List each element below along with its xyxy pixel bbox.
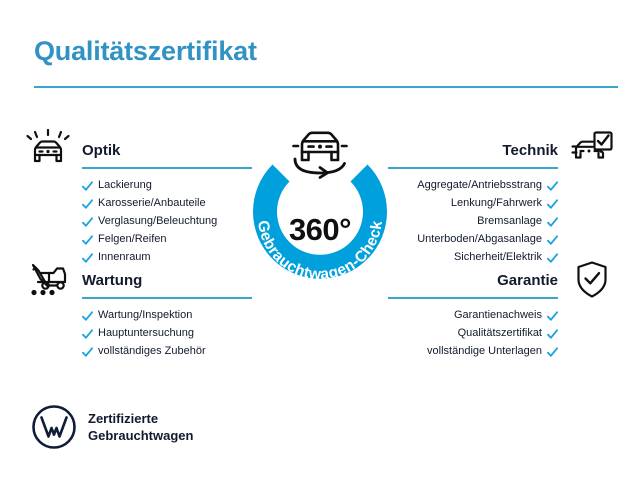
list-item: Hauptuntersuchung bbox=[22, 324, 252, 342]
list-item: Bremsanlage bbox=[388, 212, 618, 230]
car-shine-icon bbox=[22, 128, 74, 172]
list-item-label: Verglasung/Beleuchtung bbox=[98, 212, 217, 230]
list-item-label: Unterboden/Abgasanlage bbox=[417, 230, 542, 248]
check-icon bbox=[82, 328, 93, 339]
check-icon bbox=[547, 216, 558, 227]
check-icon bbox=[82, 216, 93, 227]
list-item-label: vollständige Unterlagen bbox=[427, 342, 542, 360]
list-item: Lenkung/Fahrwerk bbox=[388, 194, 618, 212]
section-garantie-header: Garantie bbox=[388, 258, 618, 298]
list-item-label: Karosserie/Anbauteile bbox=[98, 194, 206, 212]
section-optik: Optik Lackierung Karosserie/Anbauteile bbox=[22, 128, 252, 266]
list-item-label: vollständiges Zubehör bbox=[98, 342, 206, 360]
check-icon bbox=[82, 310, 93, 321]
badge-center-label: 360° bbox=[231, 212, 409, 248]
check-icon bbox=[547, 198, 558, 209]
list-item: Wartung/Inspektion bbox=[22, 306, 252, 324]
list-item-label: Aggregate/Antriebsstrang bbox=[417, 176, 542, 194]
list-item: Lackierung bbox=[22, 176, 252, 194]
list-item-label: Felgen/Reifen bbox=[98, 230, 167, 248]
check-icon bbox=[547, 180, 558, 191]
check-icon bbox=[547, 328, 558, 339]
title-divider bbox=[34, 86, 618, 88]
section-wartung-list: Wartung/Inspektion Hauptuntersuchung vol… bbox=[22, 306, 252, 360]
car-service-pen-icon bbox=[22, 258, 74, 302]
vw-footer-line2: Gebrauchtwagen bbox=[88, 428, 193, 443]
check-icon bbox=[82, 198, 93, 209]
section-garantie: Garantie Garantienachweis Qualitätszerti… bbox=[388, 258, 618, 360]
check-icon bbox=[82, 346, 93, 357]
badge-360-gebrauchtwagen-check: Gebrauchtwagen-Check 360° bbox=[231, 122, 409, 300]
vw-logo-icon bbox=[32, 405, 76, 449]
section-optik-list: Lackierung Karosserie/Anbauteile Verglas… bbox=[22, 176, 252, 266]
list-item-label: Hauptuntersuchung bbox=[98, 324, 194, 342]
check-icon bbox=[547, 234, 558, 245]
vw-footer-line1: Zertifizierte bbox=[88, 411, 158, 426]
list-item: Karosserie/Anbauteile bbox=[22, 194, 252, 212]
list-item-label: Wartung/Inspektion bbox=[98, 306, 192, 324]
check-icon bbox=[547, 346, 558, 357]
shield-check-icon bbox=[566, 258, 618, 302]
list-item-label: Qualitätszertifikat bbox=[458, 324, 542, 342]
car-rotate-360-icon bbox=[280, 122, 360, 182]
list-item: Aggregate/Antriebsstrang bbox=[388, 176, 618, 194]
list-item: vollständige Unterlagen bbox=[388, 342, 618, 360]
section-wartung-divider bbox=[82, 297, 252, 299]
section-wartung-header: Wartung bbox=[22, 258, 252, 298]
list-item-label: Lackierung bbox=[98, 176, 152, 194]
list-item: Unterboden/Abgasanlage bbox=[388, 230, 618, 248]
car-checkbox-icon bbox=[566, 128, 618, 172]
list-item: Garantienachweis bbox=[388, 306, 618, 324]
section-technik-heading: Technik bbox=[502, 142, 558, 159]
section-technik-divider bbox=[388, 167, 558, 169]
list-item: vollständiges Zubehör bbox=[22, 342, 252, 360]
section-garantie-list: Garantienachweis Qualitätszertifikat vol… bbox=[388, 306, 618, 360]
section-technik-list: Aggregate/Antriebsstrang Lenkung/Fahrwer… bbox=[388, 176, 618, 266]
vw-footer-text: Zertifizierte Gebrauchtwagen bbox=[88, 410, 193, 444]
section-technik: Technik Aggregate/Antriebsstrang Lenkung… bbox=[388, 128, 618, 266]
section-wartung: Wartung Wartung/Inspektion Hauptuntersuc… bbox=[22, 258, 252, 360]
section-optik-divider bbox=[82, 167, 252, 169]
list-item-label: Lenkung/Fahrwerk bbox=[451, 194, 542, 212]
section-garantie-heading: Garantie bbox=[497, 272, 558, 289]
list-item: Felgen/Reifen bbox=[22, 230, 252, 248]
list-item: Verglasung/Beleuchtung bbox=[22, 212, 252, 230]
check-icon bbox=[82, 234, 93, 245]
section-optik-heading: Optik bbox=[82, 142, 120, 159]
section-wartung-heading: Wartung bbox=[82, 272, 142, 289]
qualitaetszertifikat-page: Qualitätszertifikat bbox=[0, 0, 640, 480]
list-item-label: Bremsanlage bbox=[477, 212, 542, 230]
check-icon bbox=[82, 180, 93, 191]
page-title: Qualitätszertifikat bbox=[34, 36, 257, 67]
check-icon bbox=[547, 310, 558, 321]
section-garantie-divider bbox=[388, 297, 558, 299]
section-optik-header: Optik bbox=[22, 128, 252, 168]
section-technik-header: Technik bbox=[388, 128, 618, 168]
vw-certified-footer: Zertifizierte Gebrauchtwagen bbox=[32, 405, 193, 449]
list-item-label: Garantienachweis bbox=[454, 306, 542, 324]
list-item: Qualitätszertifikat bbox=[388, 324, 618, 342]
